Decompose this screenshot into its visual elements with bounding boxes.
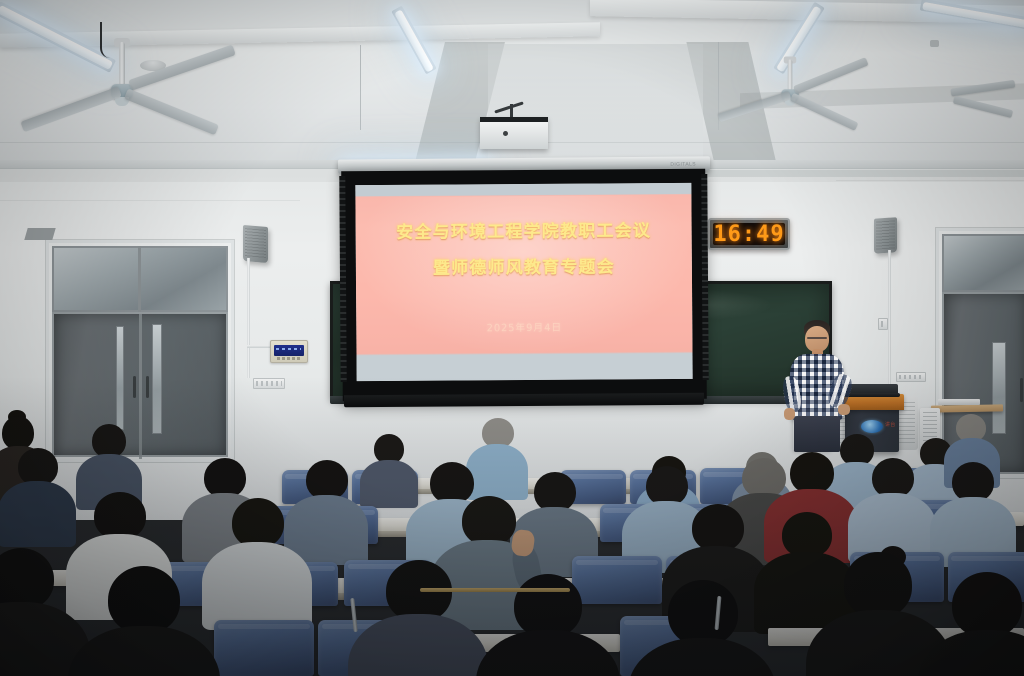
left-wall-conduit [247,258,250,378]
control-panel-display [274,345,304,356]
tube-end-cap [930,40,939,47]
projected-slide: 安全与环境工程学院教职工会议 暨师德师风教育专题会 2025年9月4日 [355,183,692,381]
ceiling [0,0,1024,178]
slide-title-line2: 暨师德师风教育专题会 [369,252,678,279]
screen-brand-label: DIGITALS [670,161,696,167]
wall-mounted-shelf [931,404,1003,412]
right-wall-conduit [888,250,891,395]
presenter [786,320,846,450]
right-door-vision-panel [992,342,1006,434]
transom-mullion [138,246,141,312]
wall-shadow-right [700,170,1024,177]
podium-side-text: 讲台 [885,421,896,428]
power-outlet-strip[interactable] [253,378,285,389]
digital-wall-clock: 16:49 [708,218,790,250]
presenter-glasses [807,337,827,339]
ceiling-projector [480,117,548,149]
wall-seam-left [0,200,300,201]
clock-time: 16:49 [713,222,784,247]
presenter-trousers [794,416,840,452]
left-door-handle[interactable] [133,376,136,398]
podium-laptop-base [844,393,900,397]
presenter-right-hand [838,404,850,415]
right-door-handle[interactable] [146,376,149,398]
right-power-outlet[interactable] [896,372,926,382]
slide-date: 2025年9月4日 [356,318,692,335]
ac-control-panel[interactable] [270,340,308,363]
seat-c4[interactable] [572,556,662,604]
door-vision-panel-right [152,324,162,434]
shelf-object [938,399,980,405]
door-vision-panel-left [116,326,124,430]
right-wall-speaker [874,217,897,254]
right-door-transom[interactable] [942,234,1024,292]
podium-emblem [861,420,883,433]
door-center-mullion [139,314,142,459]
seat-d1[interactable] [214,620,314,676]
control-panel-buttons[interactable] [277,357,301,360]
projection-screen-surface[interactable]: 安全与环境工程学院教职工会议 暨师德师风教育专题会 2025年9月4日 [355,183,692,381]
right-door-handle-2[interactable] [1020,378,1023,402]
left-double-door[interactable] [52,312,228,457]
slide-title-line1: 安全与环境工程学院教职工会议 [369,216,678,243]
projection-screen-weight-bar [344,393,704,408]
left-door-header-bracket [24,228,55,240]
right-wall-switch[interactable] [878,318,888,330]
tube-hanger-left [360,45,361,130]
desk-support-c [420,588,570,592]
lecture-hall-photo: 16:49 DIGITALS 安全与环境工程学院教职工会议 暨师德师风教育专题会… [0,0,1024,676]
clock-face: 16:49 [713,223,785,245]
